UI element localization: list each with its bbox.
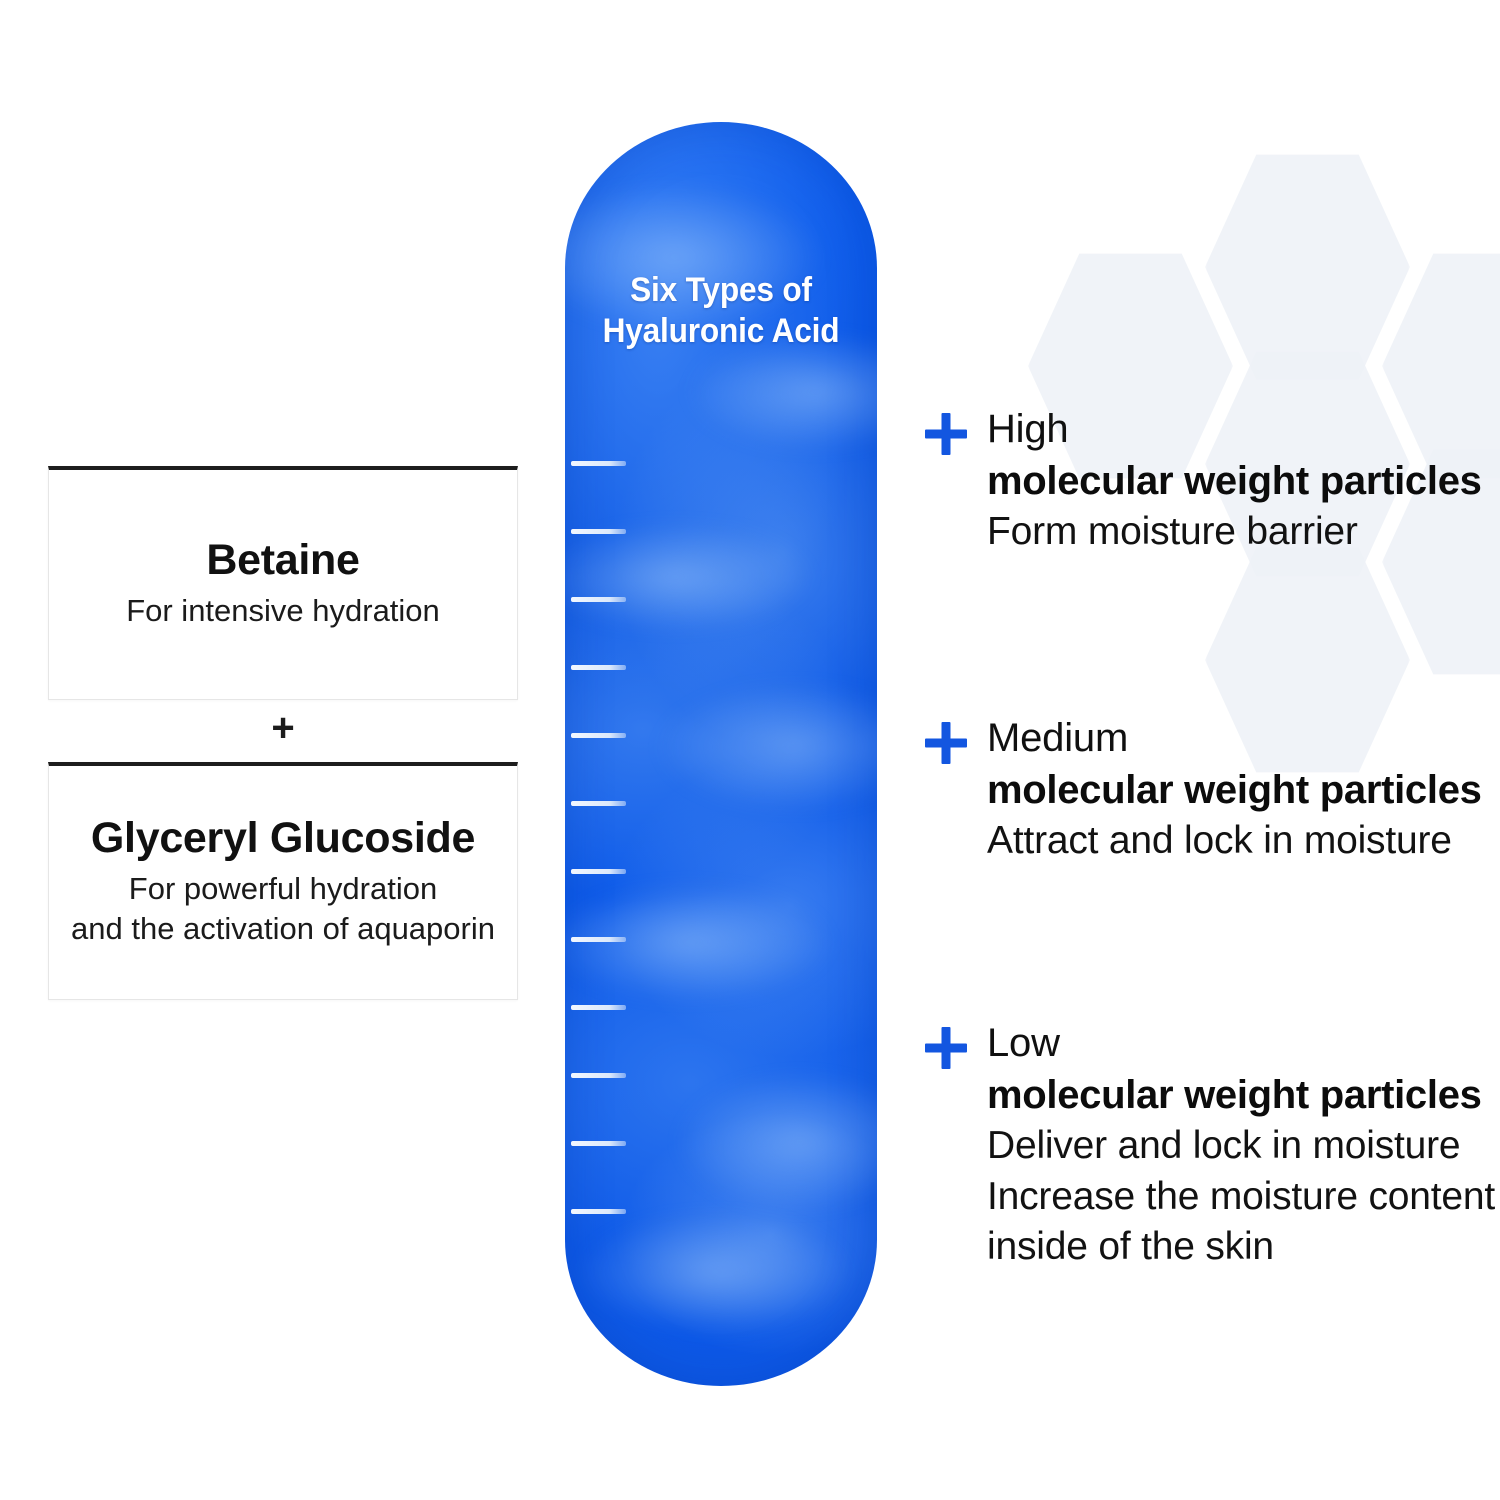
water-texture-wisp xyxy=(675,1072,877,1212)
measurement-tick xyxy=(571,1005,626,1010)
water-texture-wisp xyxy=(565,522,815,632)
feature-description-line: Form moisture barrier xyxy=(987,507,1482,558)
water-texture-wisp xyxy=(575,1212,855,1332)
feature-description-line: Increase the moisture content xyxy=(987,1172,1495,1223)
feature-description-line: Attract and lock in moisture xyxy=(987,816,1482,867)
ingredient-name: Betaine xyxy=(206,538,359,583)
bottle-title-line-1: Six Types of xyxy=(576,270,866,311)
measurement-tick xyxy=(571,801,626,806)
ingredient-description: For intensive hydration xyxy=(126,591,440,631)
measurement-tick xyxy=(571,1141,626,1146)
hyaluronic-acid-bottle: Six Types of Hyaluronic Acid xyxy=(565,122,877,1386)
feature-description-line: Deliver and lock in moisture xyxy=(987,1121,1495,1172)
ingredient-description: For powerful hydration xyxy=(129,869,437,909)
measurement-tick xyxy=(571,1073,626,1078)
measurement-tick xyxy=(571,1209,626,1214)
measurement-tick xyxy=(571,461,626,466)
feature-level: High xyxy=(987,403,1482,455)
feature-description-line: inside of the skin xyxy=(987,1222,1495,1273)
measurement-tick xyxy=(571,529,626,534)
feature-emphasis: molecular weight particles xyxy=(987,1069,1495,1121)
bottle-title: Six Types of Hyaluronic Acid xyxy=(576,270,866,353)
measurement-tick xyxy=(571,597,626,602)
feature-text-block: High molecular weight particles Form moi… xyxy=(987,403,1482,558)
plus-icon xyxy=(925,413,967,455)
feature-emphasis: molecular weight particles xyxy=(987,764,1482,816)
feature-item-low: Low molecular weight particles Deliver a… xyxy=(925,1017,1495,1273)
ingredient-card-glyceryl-glucoside: Glyceryl Glucoside For powerful hydratio… xyxy=(48,762,518,1000)
feature-text-block: Low molecular weight particles Deliver a… xyxy=(987,1017,1495,1273)
ingredient-joiner-plus-icon: + xyxy=(48,708,518,748)
water-texture-wisp xyxy=(655,682,877,812)
hexagon-watermark-icon xyxy=(1205,150,1410,384)
measurement-tick xyxy=(571,937,626,942)
measurement-tick xyxy=(571,665,626,670)
feature-text-block: Medium molecular weight particles Attrac… xyxy=(987,712,1482,867)
ingredient-description-line2: and the activation of aquaporin xyxy=(71,909,495,949)
plus-icon xyxy=(925,1027,967,1069)
feature-item-high: High molecular weight particles Form moi… xyxy=(925,403,1482,558)
water-texture-wisp xyxy=(565,882,835,1002)
ingredient-name: Glyceryl Glucoside xyxy=(91,816,475,861)
measurement-tick xyxy=(571,733,626,738)
plus-icon xyxy=(925,722,967,764)
feature-level: Medium xyxy=(987,712,1482,764)
ingredient-card-betaine: Betaine For intensive hydration xyxy=(48,466,518,700)
bottle-title-line-2: Hyaluronic Acid xyxy=(576,311,866,352)
measurement-tick xyxy=(571,869,626,874)
infographic-canvas: Betaine For intensive hydration + Glycer… xyxy=(0,0,1500,1500)
feature-level: Low xyxy=(987,1017,1495,1069)
feature-emphasis: molecular weight particles xyxy=(987,455,1482,507)
feature-item-medium: Medium molecular weight particles Attrac… xyxy=(925,712,1482,867)
